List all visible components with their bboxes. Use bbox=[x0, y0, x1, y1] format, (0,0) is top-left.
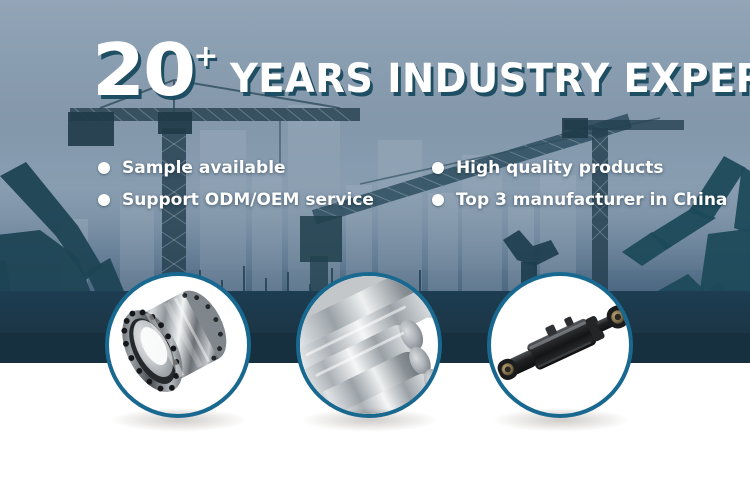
steel-flange-pipe-image bbox=[109, 276, 247, 414]
product-circle-steel-round-bars[interactable] bbox=[296, 272, 442, 418]
product-circle-hydraulic-cylinder[interactable] bbox=[487, 272, 633, 418]
product-circles bbox=[0, 0, 750, 482]
steel-round-bars-image bbox=[300, 276, 438, 414]
hydraulic-cylinder-image bbox=[491, 276, 629, 414]
product-circle-steel-flange-pipe[interactable] bbox=[105, 272, 251, 418]
promo-banner: 20 + YEARS INDUSTRY EXPERIENCE Sample av… bbox=[0, 0, 750, 482]
